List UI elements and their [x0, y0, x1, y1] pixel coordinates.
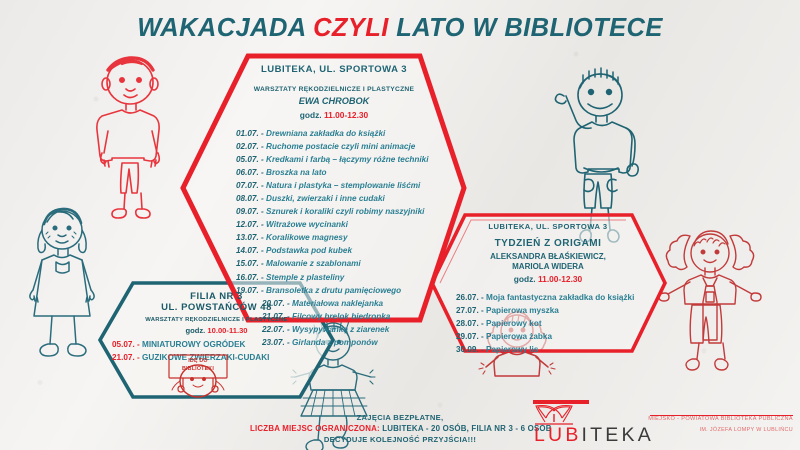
logo-book-icon-layer	[0, 0, 800, 450]
open-book-icon	[535, 406, 573, 425]
organization-name: MIEJSKO - POWIATOWA BIBLIOTEKA PUBLICZNA…	[600, 416, 793, 433]
logo-word-a: LUB	[534, 424, 582, 446]
poster-canvas: WAKACJADA CZYLI LATO W BIBLIOTECE	[0, 0, 800, 450]
organization-line-2: IM. JÓZEFA LOMPY W LUBLIŃCU	[600, 427, 793, 433]
organization-line-1: MIEJSKO - POWIATOWA BIBLIOTEKA PUBLICZNA	[600, 416, 793, 422]
logo-corner-accent	[533, 400, 589, 404]
